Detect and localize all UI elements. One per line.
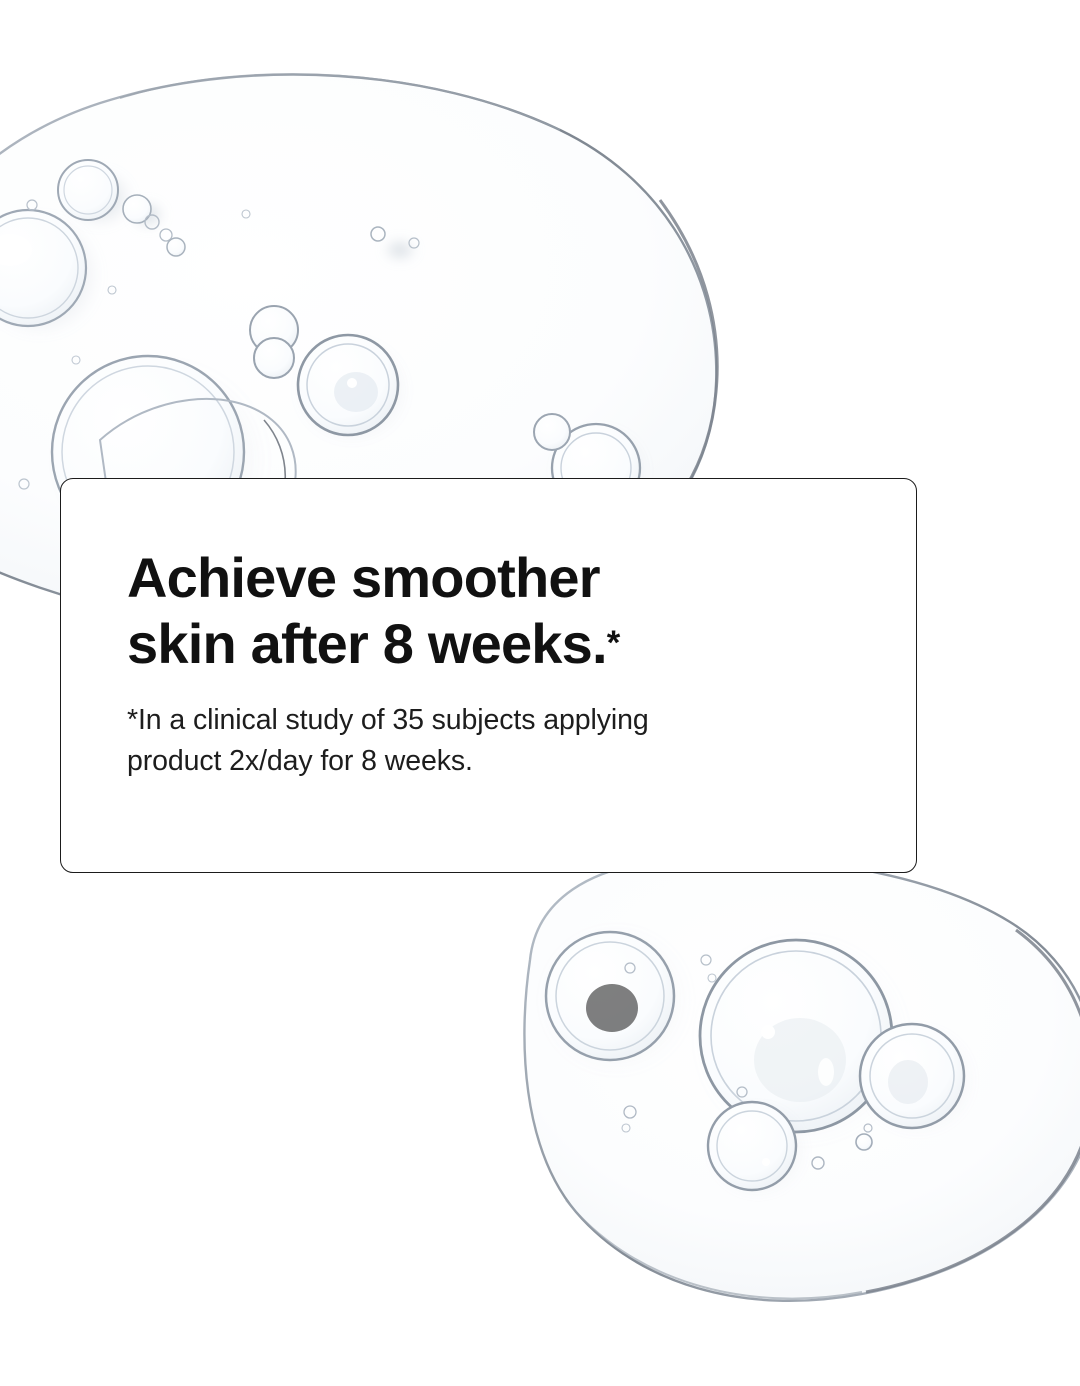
- claim-card: Achieve smootherskin after 8 weeks.* *In…: [60, 478, 917, 873]
- promo-canvas: Achieve smootherskin after 8 weeks.* *In…: [0, 0, 1080, 1386]
- serum-droplet-bottom-right: [524, 858, 1080, 1301]
- page-title: Achieve smootherskin after 8 weeks.*: [127, 545, 876, 676]
- bubble-cluster-bottom-right: [544, 930, 976, 1198]
- footnote-marker: *: [607, 624, 621, 662]
- headline-text-line-2: skin after 8 weeks.: [127, 612, 607, 675]
- claim-card-content: Achieve smootherskin after 8 weeks.* *In…: [127, 545, 876, 783]
- headline-text: Achieve smoother: [127, 546, 600, 609]
- footnote-text: *In a clinical study of 35 subjects appl…: [127, 700, 876, 783]
